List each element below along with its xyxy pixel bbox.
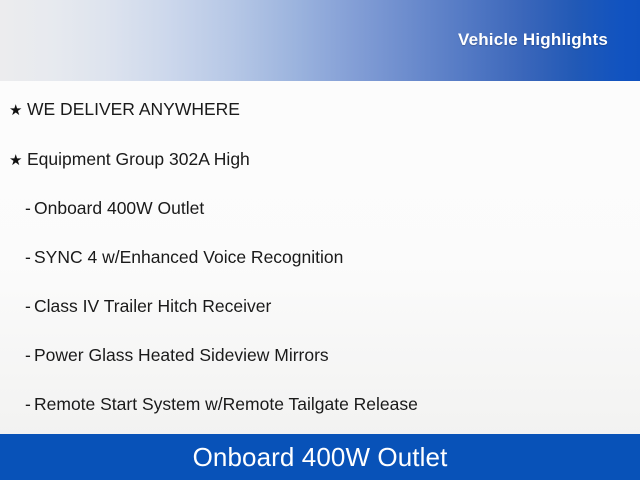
list-item: - Class IV Trailer Hitch Receiver	[0, 282, 640, 332]
dash-bullet-icon: -	[25, 396, 34, 414]
dash-bullet-icon: -	[25, 298, 34, 316]
header-banner: Vehicle Highlights	[0, 0, 640, 81]
list-item-label: Class IV Trailer Hitch Receiver	[34, 298, 271, 316]
list-item-label: Equipment Group 302A High	[27, 151, 250, 169]
list-item: - SYNC 4 w/Enhanced Voice Recognition	[0, 233, 640, 283]
list-item: - Power Glass Heated Sideview Mirrors	[0, 331, 640, 381]
list-item: ★ Equipment Group 302A High	[0, 135, 640, 185]
dash-bullet-icon: -	[25, 249, 34, 267]
dash-bullet-icon: -	[25, 347, 34, 365]
star-bullet-icon: ★	[9, 103, 27, 118]
vehicle-highlights-slide: Vehicle Highlights ★ WE DELIVER ANYWHERE…	[0, 0, 640, 480]
dash-bullet-icon: -	[25, 200, 34, 218]
star-bullet-icon: ★	[9, 153, 27, 168]
list-item-label: WE DELIVER ANYWHERE	[27, 101, 240, 119]
list-item-label: Remote Start System w/Remote Tailgate Re…	[34, 396, 418, 414]
list-item: - Remote Start System w/Remote Tailgate …	[0, 380, 640, 430]
list-item: ★ WE DELIVER ANYWHERE	[0, 85, 640, 135]
list-item-label: SYNC 4 w/Enhanced Voice Recognition	[34, 249, 343, 267]
page-title: Vehicle Highlights	[458, 30, 608, 50]
list-item: - Onboard 400W Outlet	[0, 184, 640, 234]
list-item-label: Power Glass Heated Sideview Mirrors	[34, 347, 329, 365]
highlights-list: ★ WE DELIVER ANYWHERE ★ Equipment Group …	[0, 81, 640, 434]
footer-caption-bar: Onboard 400W Outlet	[0, 434, 640, 480]
footer-caption-label: Onboard 400W Outlet	[193, 444, 448, 470]
list-item-label: Onboard 400W Outlet	[34, 200, 204, 218]
